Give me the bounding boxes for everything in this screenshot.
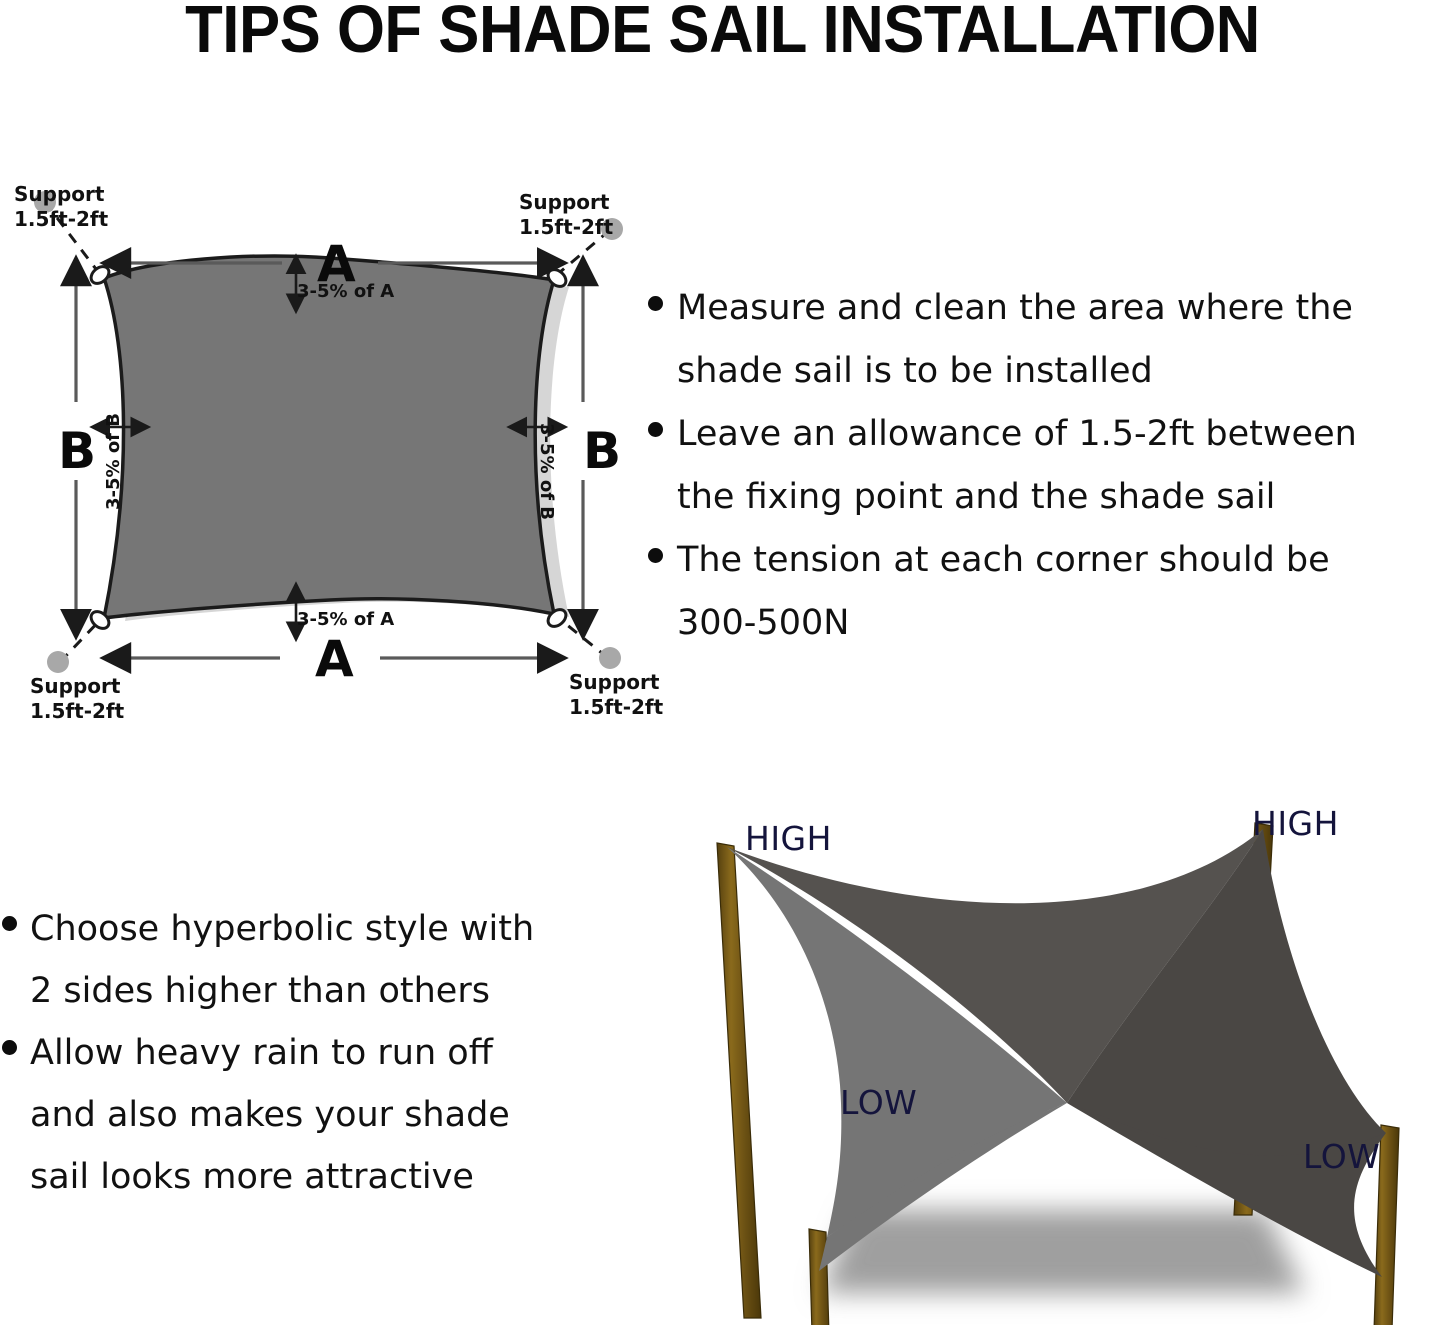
bullet-dot-icon: [2, 1040, 17, 1055]
tip-line: shade sail is to be installed: [677, 340, 1153, 403]
list-item-cont: and also makes your shade: [2, 1084, 622, 1146]
support-label-bottom-left: Support 1.5ft-2ft: [30, 674, 124, 724]
curvature-label-top: 3-5% of A: [297, 282, 394, 302]
tip-line: Leave an allowance of 1.5-2ft between: [677, 403, 1357, 466]
list-item: The tension at each corner should be: [648, 529, 1445, 592]
tip-line: sail looks more attractive: [30, 1146, 474, 1208]
list-item-cont: shade sail is to be installed: [648, 340, 1445, 403]
dimension-label-A-bottom: A: [315, 634, 354, 684]
installation-tips-top-list: Measure and clean the area where the sha…: [648, 277, 1445, 655]
tip-line: the fixing point and the shade sail: [677, 466, 1275, 529]
infographic-canvas: TIPS OF SHADE SAIL INSTALLATION: [0, 0, 1445, 1319]
list-item: Allow heavy rain to run off: [2, 1022, 622, 1084]
list-item-cont: 2 sides higher than others: [2, 960, 622, 1022]
list-item-cont: the fixing point and the shade sail: [648, 466, 1445, 529]
bullet-dot-icon: [648, 548, 663, 563]
list-item: Measure and clean the area where the: [648, 277, 1445, 340]
post-back-left: [717, 843, 761, 1318]
tip-line: and also makes your shade: [30, 1084, 510, 1146]
tip-line: 300-500N: [677, 592, 849, 655]
tip-line: The tension at each corner should be: [677, 529, 1330, 592]
curvature-label-bottom: 3-5% of A: [297, 610, 394, 630]
dimension-label-B-left: B: [58, 426, 96, 476]
bullet-dot-icon: [648, 296, 663, 311]
curvature-label-left: 3-5% of B: [104, 413, 124, 510]
shade-sail-shape: [104, 256, 554, 618]
dimension-label-B-right: B: [583, 426, 621, 476]
post-label-high-left: HIGH: [745, 822, 832, 855]
tip-line: Measure and clean the area where the: [677, 277, 1353, 340]
ground-shadow: [820, 1210, 1305, 1293]
post-label-low-left: LOW: [840, 1086, 917, 1119]
installation-tips-bottom-list: Choose hyperbolic style with 2 sides hig…: [2, 898, 622, 1208]
list-item: Choose hyperbolic style with: [2, 898, 622, 960]
page-title: TIPS OF SHADE SAIL INSTALLATION: [58, 0, 1387, 63]
tip-line: 2 sides higher than others: [30, 960, 490, 1022]
support-label-bottom-right: Support 1.5ft-2ft: [569, 670, 663, 720]
support-label-top-right: Support 1.5ft-2ft: [519, 190, 613, 240]
list-item: Leave an allowance of 1.5-2ft between: [648, 403, 1445, 466]
bullet-dot-icon: [2, 916, 17, 931]
hyperbolic-sail-svg: [655, 785, 1445, 1325]
post-label-low-right: LOW: [1303, 1140, 1380, 1173]
tip-line: Allow heavy rain to run off: [30, 1022, 493, 1084]
list-item-cont: sail looks more attractive: [2, 1146, 622, 1208]
tip-line: Choose hyperbolic style with: [30, 898, 534, 960]
curvature-label-right: 3-5% of B: [536, 423, 556, 520]
post-label-high-right: HIGH: [1252, 807, 1339, 840]
list-item-cont: 300-500N: [648, 592, 1445, 655]
bullet-dot-icon: [648, 422, 663, 437]
support-label-top-left: Support 1.5ft-2ft: [14, 182, 108, 232]
